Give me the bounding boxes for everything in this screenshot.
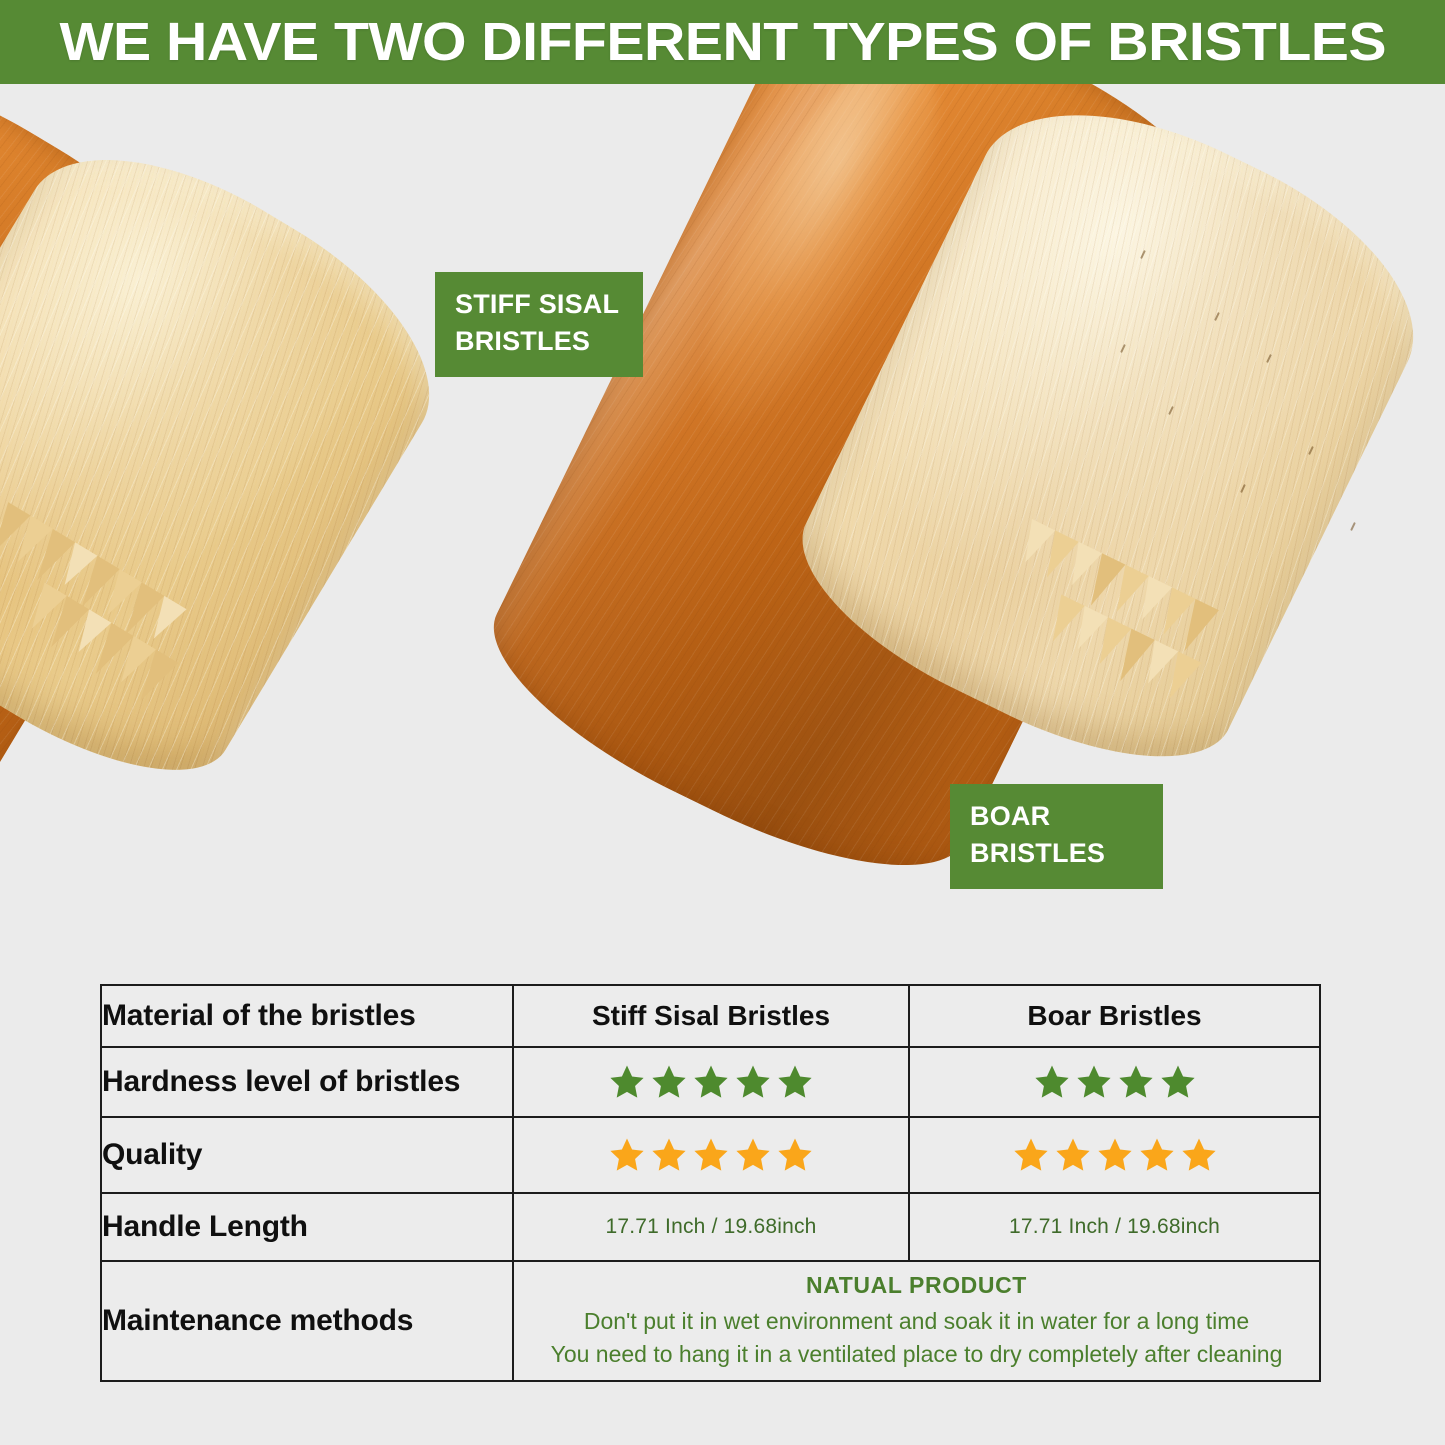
callout-line-2: BRISTLES xyxy=(970,835,1145,872)
quality-stars-stiff-sisal xyxy=(513,1117,909,1193)
table-row: Quality xyxy=(101,1117,1320,1193)
sisal-bristle-pad xyxy=(0,104,474,817)
handle-length-boar: 17.71 Inch / 19.68inch xyxy=(909,1193,1320,1261)
page-title: WE HAVE TWO DIFFERENT TYPES OF BRISTLES xyxy=(59,15,1386,69)
star-icon xyxy=(1138,1136,1176,1174)
star-icon xyxy=(608,1063,646,1101)
star-icon xyxy=(1054,1136,1092,1174)
row-label-quality: Quality xyxy=(101,1117,513,1193)
column-header-boar: Boar Bristles xyxy=(909,985,1320,1047)
star-icon xyxy=(1033,1063,1071,1101)
star-icon xyxy=(776,1063,814,1101)
table-row: Handle Length 17.71 Inch / 19.68inch 17.… xyxy=(101,1193,1320,1261)
handle-length-stiff-sisal: 17.71 Inch / 19.68inch xyxy=(513,1193,909,1261)
star-icon xyxy=(608,1136,646,1174)
row-label-material: Material of the bristles xyxy=(101,985,513,1047)
star-icon xyxy=(692,1063,730,1101)
quality-stars-boar xyxy=(909,1117,1320,1193)
star-rating xyxy=(514,1063,908,1101)
header-banner: WE HAVE TWO DIFFERENT TYPES OF BRISTLES xyxy=(0,0,1445,84)
star-icon xyxy=(776,1136,814,1174)
column-header-stiff-sisal: Stiff Sisal Bristles xyxy=(513,985,909,1047)
hardness-stars-boar xyxy=(909,1047,1320,1117)
maintenance-instructions: NATUAL PRODUCT Don't put it in wet envir… xyxy=(513,1261,1320,1381)
star-icon xyxy=(1096,1136,1134,1174)
product-photo-stage: STIFF SISAL BRISTLES BOAR BRISTLES xyxy=(0,84,1445,964)
table-row: Maintenance methods NATUAL PRODUCT Don't… xyxy=(101,1261,1320,1381)
callout-line-1: BOAR xyxy=(970,798,1145,835)
star-icon xyxy=(1117,1063,1155,1101)
star-icon xyxy=(650,1136,688,1174)
star-rating xyxy=(910,1063,1319,1101)
star-icon xyxy=(734,1063,772,1101)
bristle-comparison-table: Material of the bristles Stiff Sisal Bri… xyxy=(100,984,1321,1382)
star-rating xyxy=(514,1136,908,1174)
bristle-fiber-highlight xyxy=(0,104,474,817)
star-icon xyxy=(650,1063,688,1101)
hardness-stars-stiff-sisal xyxy=(513,1047,909,1117)
star-rating xyxy=(910,1136,1319,1174)
row-label-hardness: Hardness level of bristles xyxy=(101,1047,513,1117)
row-label-handle-length: Handle Length xyxy=(101,1193,513,1261)
callout-line-2: BRISTLES xyxy=(455,323,625,360)
table-row: Hardness level of bristles xyxy=(101,1047,1320,1117)
callout-boar: BOAR BRISTLES xyxy=(950,784,1163,889)
maintenance-title: NATUAL PRODUCT xyxy=(514,1272,1319,1299)
star-icon xyxy=(1180,1136,1218,1174)
boar-brush-photo xyxy=(770,84,1445,814)
table-row: Material of the bristles Stiff Sisal Bri… xyxy=(101,985,1320,1047)
maintenance-line-1: Don't put it in wet environment and soak… xyxy=(514,1305,1319,1338)
maintenance-line-2: You need to hang it in a ventilated plac… xyxy=(514,1338,1319,1371)
star-icon xyxy=(1075,1063,1113,1101)
row-label-maintenance: Maintenance methods xyxy=(101,1261,513,1381)
star-icon xyxy=(1159,1063,1197,1101)
star-icon xyxy=(734,1136,772,1174)
callout-line-1: STIFF SISAL xyxy=(455,286,625,323)
star-icon xyxy=(1012,1136,1050,1174)
callout-stiff-sisal: STIFF SISAL BRISTLES xyxy=(435,272,643,377)
star-icon xyxy=(692,1136,730,1174)
